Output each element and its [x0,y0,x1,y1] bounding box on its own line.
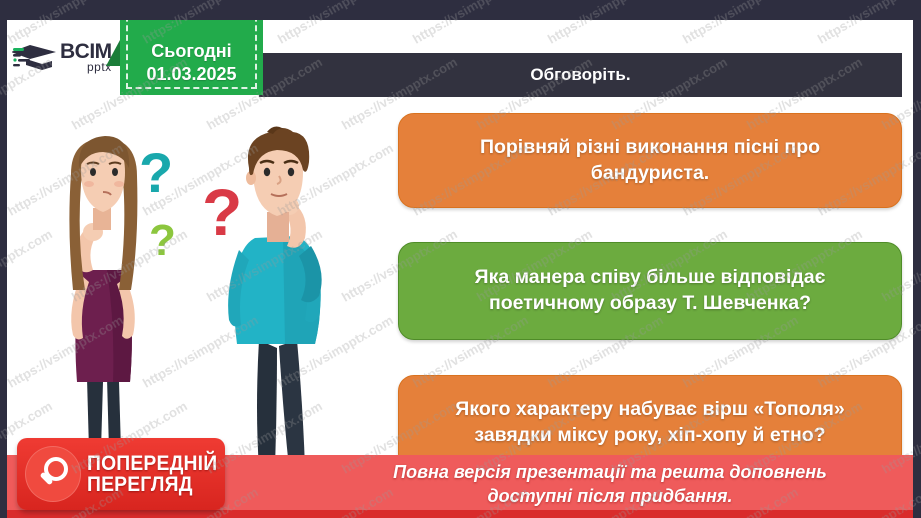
svg-text:?: ? [202,175,242,249]
slide-title-bar: Обговоріть. [259,53,902,97]
question-text-2: Яка манера співу більше відповідає поети… [425,265,875,317]
logo-wordmark: BCIM pptx [60,42,112,73]
preview-button-line-1: ПОПЕРЕДНІЙ [87,453,217,474]
purchase-banner-text: Повна версія презентації та решта доповн… [307,457,913,512]
slide-title-text: Обговоріть. [530,65,630,85]
badge-fold-corner [106,40,120,66]
question-text-1: Порівняй різні виконання пісні про банду… [425,135,875,187]
svg-text:?: ? [149,216,176,265]
logo-brand-text: BCIM [60,42,112,62]
today-date: 01.03.2025 [146,63,236,86]
graduation-cap-icon [12,39,58,77]
preview-button[interactable]: ПОПЕРЕДНІЙ ПЕРЕГЛЯД [17,438,225,510]
purchase-banner-line-2: доступні після придбання. [488,485,733,508]
slide-canvas: BCIM pptx Сьогодні 01.03.2025 Обговоріть… [7,20,913,518]
logo-sub-text: pptx [60,62,112,73]
today-label: Сьогодні [151,40,231,63]
preview-button-line-2: ПЕРЕГЛЯД [87,474,217,495]
preview-button-labels: ПОПЕРЕДНІЙ ПЕРЕГЛЯД [87,453,229,496]
today-date-badge: Сьогодні 01.03.2025 [120,20,263,95]
magnifier-icon [25,446,81,502]
svg-text:?: ? [139,141,173,204]
question-box-1: Порівняй різні виконання пісні про банду… [398,113,902,208]
question-box-2: Яка манера співу більше відповідає поети… [398,242,902,340]
purchase-banner-line-1: Повна версія презентації та решта доповн… [393,461,827,484]
question-text-3: Якого характеру набуває вірш «Тополя» за… [425,397,875,449]
